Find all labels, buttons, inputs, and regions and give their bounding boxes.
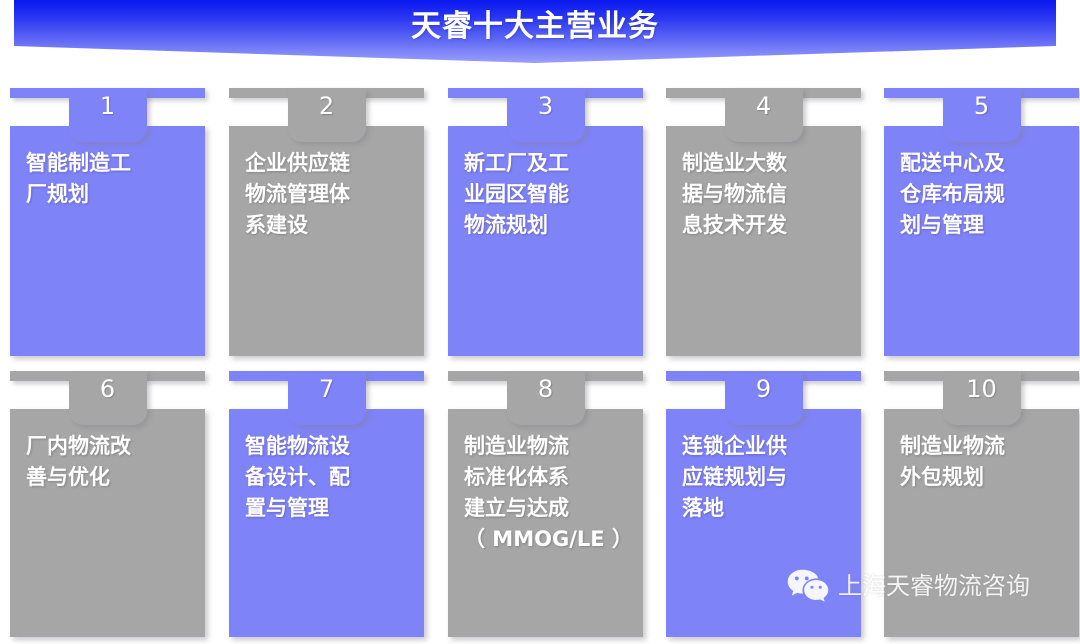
card-number-tab: 8 <box>507 371 585 425</box>
card-number: 1 <box>69 92 147 120</box>
card-number-tab: 6 <box>69 371 147 425</box>
card-number-tab: 3 <box>507 88 585 142</box>
watermark-text: 上海天睿物流咨询 <box>838 572 1030 600</box>
card-row-top: 1 智能制造工 厂规划 2 企业供应链 物流管理体 系建设 3 新工厂及工 业园… <box>0 88 1080 356</box>
business-card-6[interactable]: 6 厂内物流改 善与优化 <box>10 371 205 637</box>
business-card-1[interactable]: 1 智能制造工 厂规划 <box>10 88 205 356</box>
card-number-tab: 2 <box>288 88 366 142</box>
business-card-8[interactable]: 8 制造业物流 标准化体系 建立与达成 （ MMOG/LE ） <box>448 371 643 637</box>
business-card-2[interactable]: 2 企业供应链 物流管理体 系建设 <box>229 88 424 356</box>
card-number-tab: 10 <box>943 371 1021 425</box>
card-label: 厂内物流改 善与优化 <box>26 431 195 493</box>
card-label: 连锁企业供 应链规划与 落地 <box>682 431 851 524</box>
card-number-tab: 5 <box>943 88 1021 142</box>
card-label: 智能物流设 备设计、配 置与管理 <box>245 431 414 524</box>
card-number-tab: 7 <box>288 371 366 425</box>
card-label: 配送中心及 仓库布局规 划与管理 <box>900 148 1069 241</box>
card-label: 企业供应链 物流管理体 系建设 <box>245 148 414 241</box>
card-number: 5 <box>943 92 1021 120</box>
page-title: 天睿十大主营业务 <box>14 10 1056 44</box>
card-number-tab: 1 <box>69 88 147 142</box>
card-label: 制造业大数 据与物流信 息技术开发 <box>682 148 851 241</box>
card-number: 10 <box>943 375 1021 403</box>
card-label: 智能制造工 厂规划 <box>26 148 195 210</box>
business-card-7[interactable]: 7 智能物流设 备设计、配 置与管理 <box>229 371 424 637</box>
card-number: 9 <box>725 375 803 403</box>
card-label: 新工厂及工 业园区智能 物流规划 <box>464 148 633 241</box>
card-number: 8 <box>507 375 585 403</box>
business-card-3[interactable]: 3 新工厂及工 业园区智能 物流规划 <box>448 88 643 356</box>
watermark: 上海天睿物流咨询 <box>786 568 1030 604</box>
card-label: 制造业物流 标准化体系 建立与达成 （ MMOG/LE ） <box>464 431 633 555</box>
card-number-tab: 4 <box>725 88 803 142</box>
card-number: 6 <box>69 375 147 403</box>
business-card-5[interactable]: 5 配送中心及 仓库布局规 划与管理 <box>884 88 1079 356</box>
card-number: 4 <box>725 92 803 120</box>
card-number-tab: 9 <box>725 371 803 425</box>
header-banner: 天睿十大主营业务 <box>14 0 1056 63</box>
card-number: 7 <box>288 375 366 403</box>
business-card-4[interactable]: 4 制造业大数 据与物流信 息技术开发 <box>666 88 861 356</box>
card-number: 3 <box>507 92 585 120</box>
wechat-icon <box>786 568 830 604</box>
card-number: 2 <box>288 92 366 120</box>
card-label: 制造业物流 外包规划 <box>900 431 1069 493</box>
